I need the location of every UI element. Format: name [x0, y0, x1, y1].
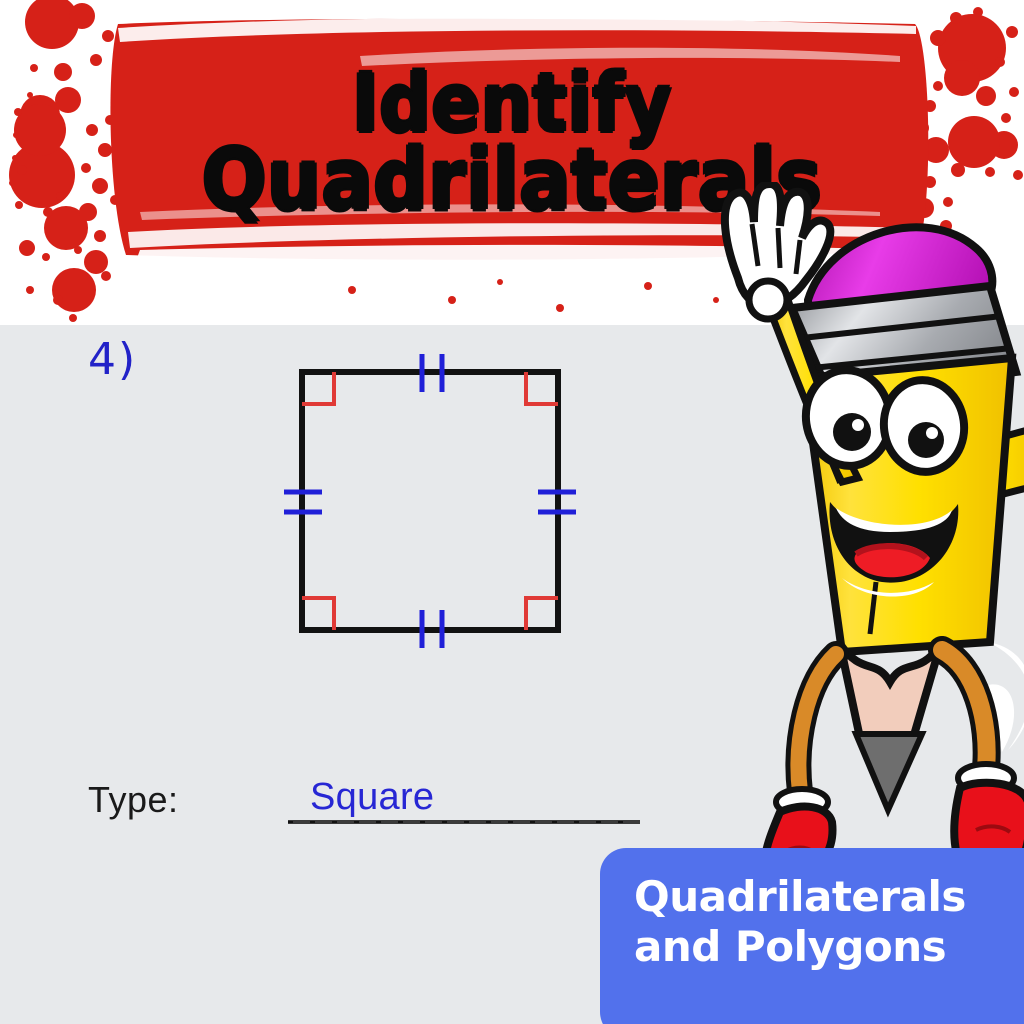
problem-number: 4) [88, 334, 137, 385]
mascot-left-leg [765, 654, 836, 872]
right-angle-marks [302, 372, 558, 630]
type-label: Type: [88, 779, 179, 821]
mascot-right-leg [942, 650, 1024, 872]
topic-chip-line-2: and Polygons [634, 922, 1024, 972]
pencil-character-illustration [690, 182, 1024, 872]
quadrilateral-figure [280, 350, 580, 650]
square-outline [302, 372, 558, 630]
right-angle-mark-bottom-left [302, 598, 334, 630]
pencil-mascot [690, 182, 1024, 872]
congruence-tick-marks [284, 354, 576, 648]
mascot-wood-tip [840, 644, 940, 810]
answer-blank-line[interactable] [288, 820, 640, 824]
right-angle-mark-top-left [302, 372, 334, 404]
splatter-left [9, 0, 125, 322]
topic-chip-line-1: Quadrilaterals [634, 872, 1024, 922]
right-angle-mark-top-right [526, 372, 558, 404]
square-diagram [280, 350, 580, 650]
splatter-below-banner [348, 279, 719, 312]
topic-chip[interactable]: Quadrilaterals and Polygons [600, 848, 1024, 1024]
answer-value[interactable]: Square [310, 776, 434, 819]
worksheet-page: Identify Quadrilaterals 4) [0, 0, 1024, 1024]
right-angle-mark-bottom-right [526, 598, 558, 630]
